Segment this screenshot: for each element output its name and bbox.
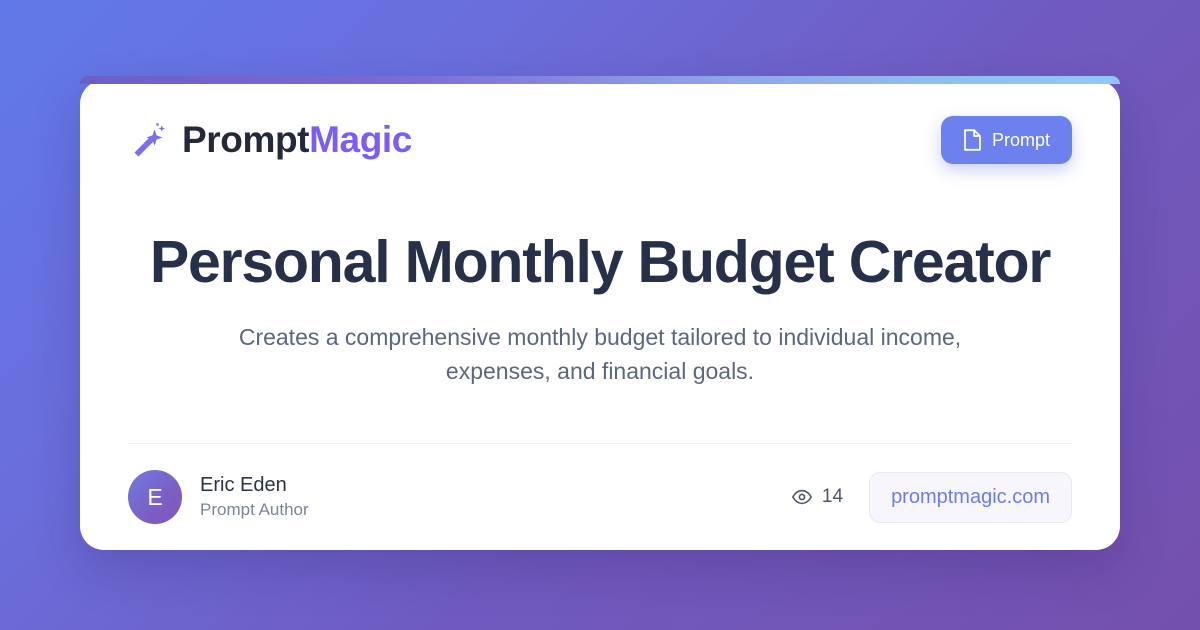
author-details: Eric Eden Prompt Author xyxy=(200,472,309,522)
brand-name-magic: Magic xyxy=(309,119,412,160)
brand-logo[interactable]: PromptMagic xyxy=(128,119,412,161)
brand-name-prompt: Prompt xyxy=(182,119,309,160)
author-role: Prompt Author xyxy=(200,499,309,522)
brand-name: PromptMagic xyxy=(182,119,412,161)
view-count: 14 xyxy=(822,486,843,508)
view-count-block: 14 xyxy=(791,486,843,508)
avatar: E xyxy=(128,470,182,524)
eye-icon xyxy=(791,486,813,508)
share-card: PromptMagic Prompt Personal Monthly Budg… xyxy=(80,80,1120,550)
card-content: Personal Monthly Budget Creator Creates … xyxy=(128,200,1072,443)
page-subtitle: Creates a comprehensive monthly budget t… xyxy=(220,320,980,389)
document-icon xyxy=(963,129,982,151)
author-block[interactable]: E Eric Eden Prompt Author xyxy=(128,470,309,524)
page-title: Personal Monthly Budget Creator xyxy=(150,232,1050,294)
footer-meta: 14 promptmagic.com xyxy=(791,472,1072,523)
prompt-button-label: Prompt xyxy=(992,130,1050,151)
prompt-button[interactable]: Prompt xyxy=(941,116,1072,164)
card-header: PromptMagic Prompt xyxy=(128,80,1072,200)
card-footer: E Eric Eden Prompt Author 14 promptmagic… xyxy=(128,444,1072,550)
magic-wand-icon xyxy=(128,120,168,160)
site-badge[interactable]: promptmagic.com xyxy=(869,472,1072,523)
author-name: Eric Eden xyxy=(200,472,309,499)
